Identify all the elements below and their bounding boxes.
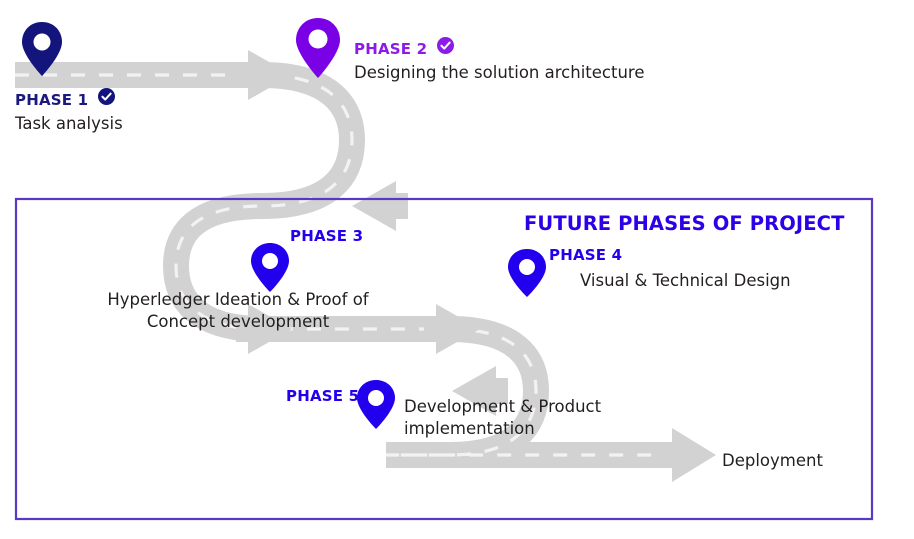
phase-5-tag-block: PHASE 5 (286, 385, 359, 405)
roadmap-diagram: PHASE 1 Task analysis PHASE 2 (0, 0, 914, 539)
check-circle-icon (437, 37, 454, 58)
phase-4-tag: PHASE 4 (549, 246, 622, 264)
phase-3-description: Hyperledger Ideation & Proof of Concept … (88, 289, 388, 333)
pin-phase-4[interactable] (508, 249, 546, 297)
phase-4-description-block: Visual & Technical Design (580, 270, 791, 292)
phase-3-description-block: Hyperledger Ideation & Proof of Concept … (88, 289, 388, 333)
road-arrow-2 (352, 181, 408, 231)
phase-3-tag-block: PHASE 3 (290, 225, 363, 245)
future-phases-title: FUTURE PHASES OF PROJECT (524, 212, 844, 235)
phase-5-description-block: Development & Product implementation (404, 396, 601, 440)
check-circle-icon (98, 88, 115, 109)
phase-5-tag: PHASE 5 (286, 387, 359, 405)
phase-5-description: Development & Product implementation (404, 396, 601, 440)
road-arrow-1 (236, 50, 292, 100)
phase-2-tag: PHASE 2 (354, 40, 427, 58)
phase-3-tag: PHASE 3 (290, 227, 363, 245)
pin-phase-3[interactable] (251, 243, 289, 292)
road-arrow-4 (424, 304, 480, 354)
future-phases-box (16, 199, 872, 519)
phase-2-description: Designing the solution architecture (354, 62, 644, 84)
phase-2-label-block: PHASE 2 Designing the solution architect… (354, 38, 644, 84)
phase-1-label-block: PHASE 1 Task analysis (15, 89, 123, 135)
pin-phase-5[interactable] (357, 380, 395, 429)
phase-4-description: Visual & Technical Design (580, 270, 791, 292)
deployment-label: Deployment (722, 451, 823, 470)
phase-1-tag: PHASE 1 (15, 91, 88, 109)
phase-1-description: Task analysis (15, 113, 123, 135)
phase-4-tag-block: PHASE 4 (549, 244, 622, 264)
road-arrow-final (660, 428, 716, 482)
